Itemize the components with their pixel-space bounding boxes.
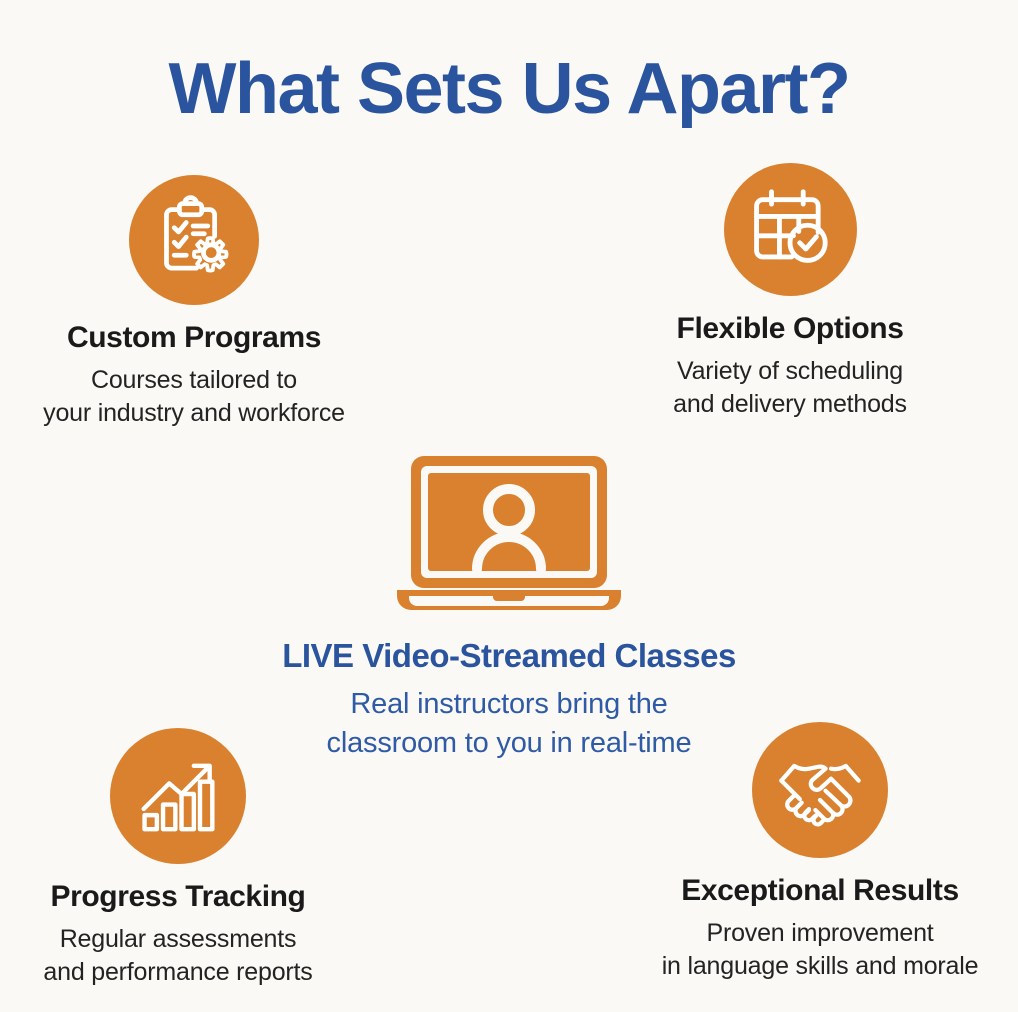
feature-title: Progress Tracking	[0, 880, 356, 914]
feature-custom-programs: Custom Programs Courses tailored to your…	[0, 175, 388, 430]
feature-exceptional-results: Exceptional Results Proven improvement i…	[640, 722, 1000, 983]
feature-description-line-1: Variety of scheduling	[600, 355, 980, 388]
feature-title: Custom Programs	[0, 321, 388, 355]
page-title: What Sets Us Apart?	[0, 52, 1018, 128]
center-feature-title: LIVE Video-Streamed Classes	[159, 637, 859, 675]
feature-description: Proven improvement in language skills an…	[640, 917, 1000, 983]
feature-description-line-2: in language skills and morale	[640, 950, 1000, 983]
icon-badge-progress-tracking	[110, 728, 246, 864]
feature-flexible-options: Flexible Options Variety of scheduling a…	[600, 163, 980, 421]
laptop-person-icon	[393, 450, 625, 615]
feature-description-line-2: and performance reports	[0, 956, 356, 989]
calendar-check-icon	[746, 183, 834, 276]
feature-description: Courses tailored to your industry and wo…	[0, 364, 388, 430]
clipboard-gear-icon	[151, 195, 237, 286]
feature-description-line-1: Courses tailored to	[0, 364, 388, 397]
icon-badge-exceptional-results	[752, 722, 888, 858]
feature-description-line-1: Proven improvement	[640, 917, 1000, 950]
icon-badge-flexible-options	[724, 163, 857, 296]
feature-description-line-2: your industry and workforce	[0, 397, 388, 430]
center-feature-description-line-1: Real instructors bring the	[159, 685, 859, 724]
handshake-icon	[774, 742, 866, 839]
feature-live-classes: LIVE Video-Streamed Classes Real instruc…	[159, 450, 859, 762]
feature-description: Variety of scheduling and delivery metho…	[600, 355, 980, 421]
feature-description-line-2: and delivery methods	[600, 388, 980, 421]
bar-chart-growth-icon	[134, 750, 222, 843]
feature-title: Exceptional Results	[640, 874, 1000, 908]
feature-title: Flexible Options	[600, 312, 980, 346]
feature-description: Regular assessments and performance repo…	[0, 923, 356, 989]
feature-description-line-1: Regular assessments	[0, 923, 356, 956]
feature-progress-tracking: Progress Tracking Regular assessments an…	[0, 728, 356, 989]
infographic-canvas: What Sets Us Apart? Custom	[0, 0, 1018, 1012]
icon-badge-custom-programs	[129, 175, 259, 305]
